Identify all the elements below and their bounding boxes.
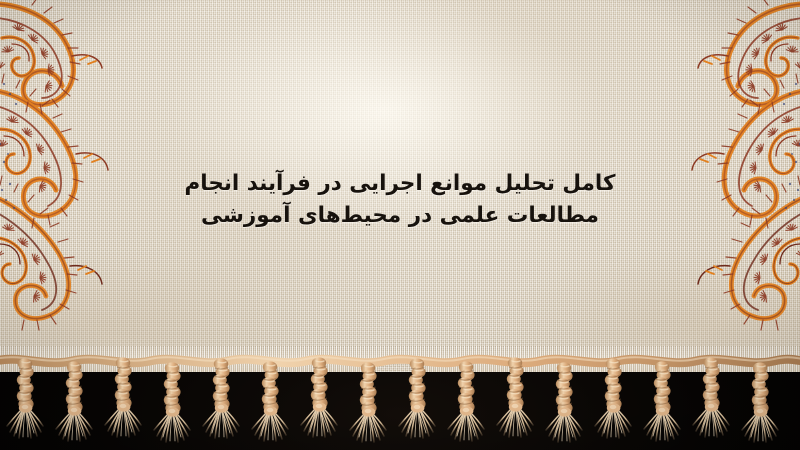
fabric-selvedge-edge: [0, 346, 800, 372]
fabric-weave-texture: [0, 0, 800, 372]
slide-canvas: کامل تحلیل موانع اجرایی در فرآیند انجام …: [0, 0, 800, 450]
textile-sheet: [0, 0, 800, 372]
